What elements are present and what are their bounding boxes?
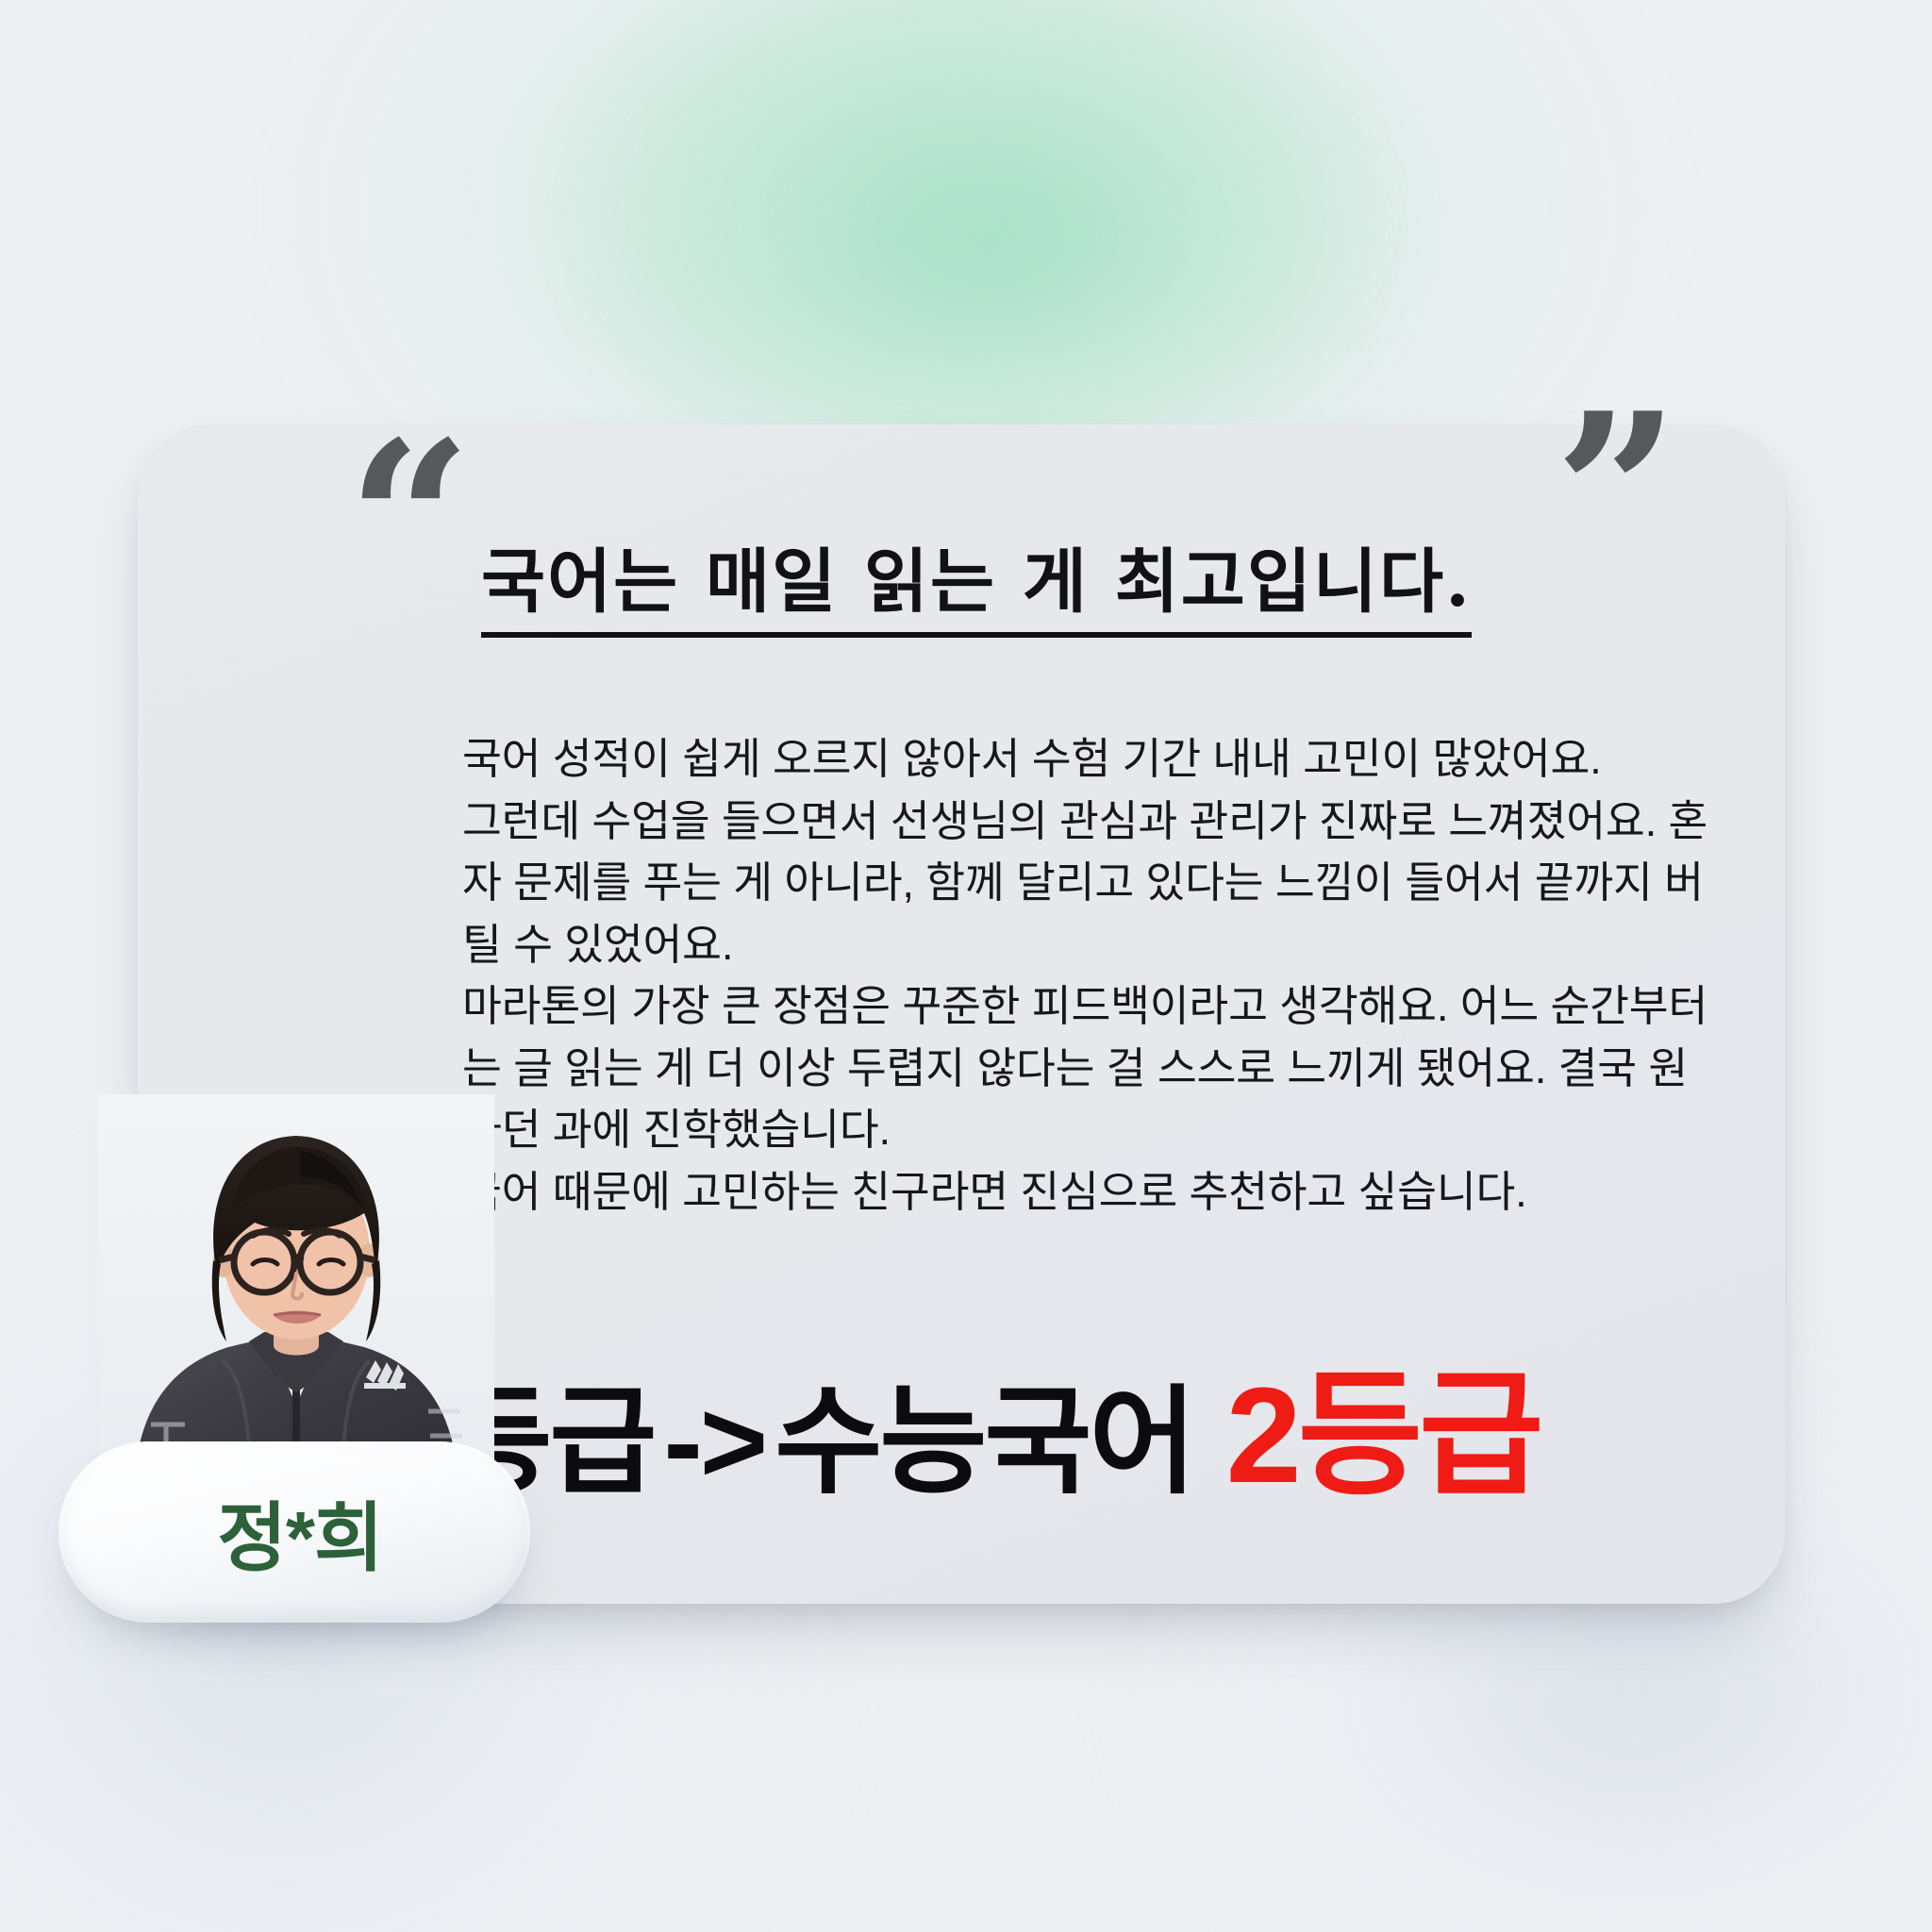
grade-arrow-icon: -> <box>655 1384 775 1501</box>
testimonial-headline: 국어는 매일 읽는 게 최고입니다. <box>481 525 1472 638</box>
quote-close-icon: ” <box>1555 385 1679 602</box>
mint-glow-core-decoration <box>604 38 1377 443</box>
student-name-label: 정*희 <box>217 1477 382 1587</box>
grade-after-label: 2등급 <box>1226 1368 1541 1504</box>
quote-open-icon: “ <box>347 413 472 630</box>
student-name-pill: 정*희 <box>58 1441 530 1623</box>
testimonial-card: “ ” 국어는 매일 읽는 게 최고입니다. 국어 성적이 쉽게 오르지 않아서… <box>138 425 1785 1604</box>
grade-subject-label: 수능국어 <box>774 1384 1193 1501</box>
testimonial-body: 국어 성적이 쉽게 오르지 않아서 수험 기간 내내 고민이 많았어요. 그런데… <box>462 728 1726 1223</box>
testimonial-poster: “ ” 국어는 매일 읽는 게 최고입니다. 국어 성적이 쉽게 오르지 않아서… <box>0 0 1932 1932</box>
